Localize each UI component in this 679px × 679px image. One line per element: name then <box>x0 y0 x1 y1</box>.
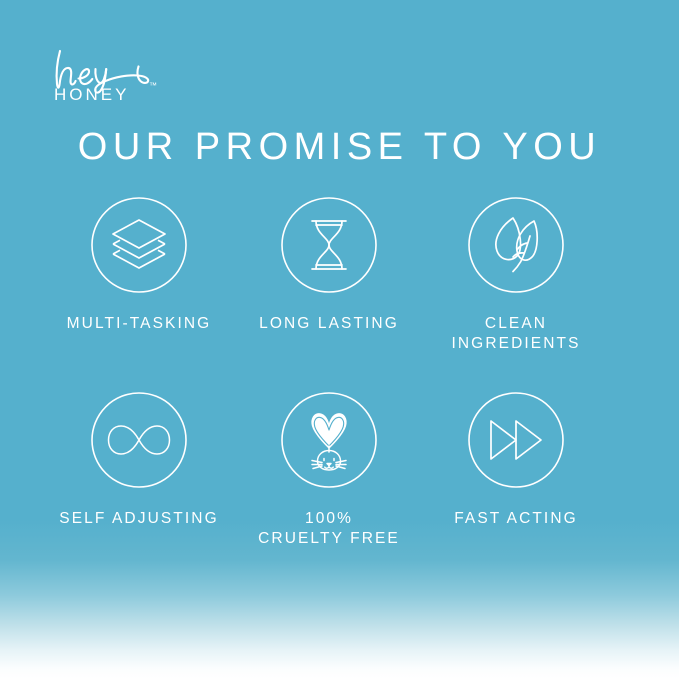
promise-item-self-adjusting: SELF ADJUSTING <box>44 391 234 529</box>
brand-logo: HONEY ™ <box>52 48 202 110</box>
promise-label: LONG LASTING <box>234 314 424 334</box>
promise-label: SELF ADJUSTING <box>44 509 234 529</box>
promise-item-multi-tasking: MULTI-TASKING <box>44 196 234 334</box>
promise-label: CLEAN INGREDIENTS <box>421 314 611 354</box>
promise-row: SELF ADJUSTING <box>0 391 679 586</box>
promise-item-clean-ingredients: CLEAN INGREDIENTS <box>421 196 611 354</box>
promise-item-long-lasting: LONG LASTING <box>234 196 424 334</box>
promise-label: MULTI-TASKING <box>44 314 234 334</box>
trademark-symbol: ™ <box>149 82 157 90</box>
leaves-icon <box>467 196 565 294</box>
promise-poster: HONEY ™ OUR PROMISE TO YOU <box>0 0 679 679</box>
infinity-icon <box>90 391 188 489</box>
promise-grid: MULTI-TASKING <box>0 196 679 586</box>
promise-label: 100% CRUELTY FREE <box>234 509 424 549</box>
promise-item-fast-acting: FAST ACTING <box>421 391 611 529</box>
promise-label: FAST ACTING <box>421 509 611 529</box>
promise-row: MULTI-TASKING <box>0 196 679 391</box>
fast-forward-icon <box>467 391 565 489</box>
bunny-heart-icon <box>280 391 378 489</box>
hourglass-icon <box>280 196 378 294</box>
page-title: OUR PROMISE TO YOU <box>0 127 679 169</box>
stacked-layers-icon <box>90 196 188 294</box>
promise-item-cruelty-free: 100% CRUELTY FREE <box>234 391 424 549</box>
brand-wordmark: HONEY <box>54 86 129 103</box>
